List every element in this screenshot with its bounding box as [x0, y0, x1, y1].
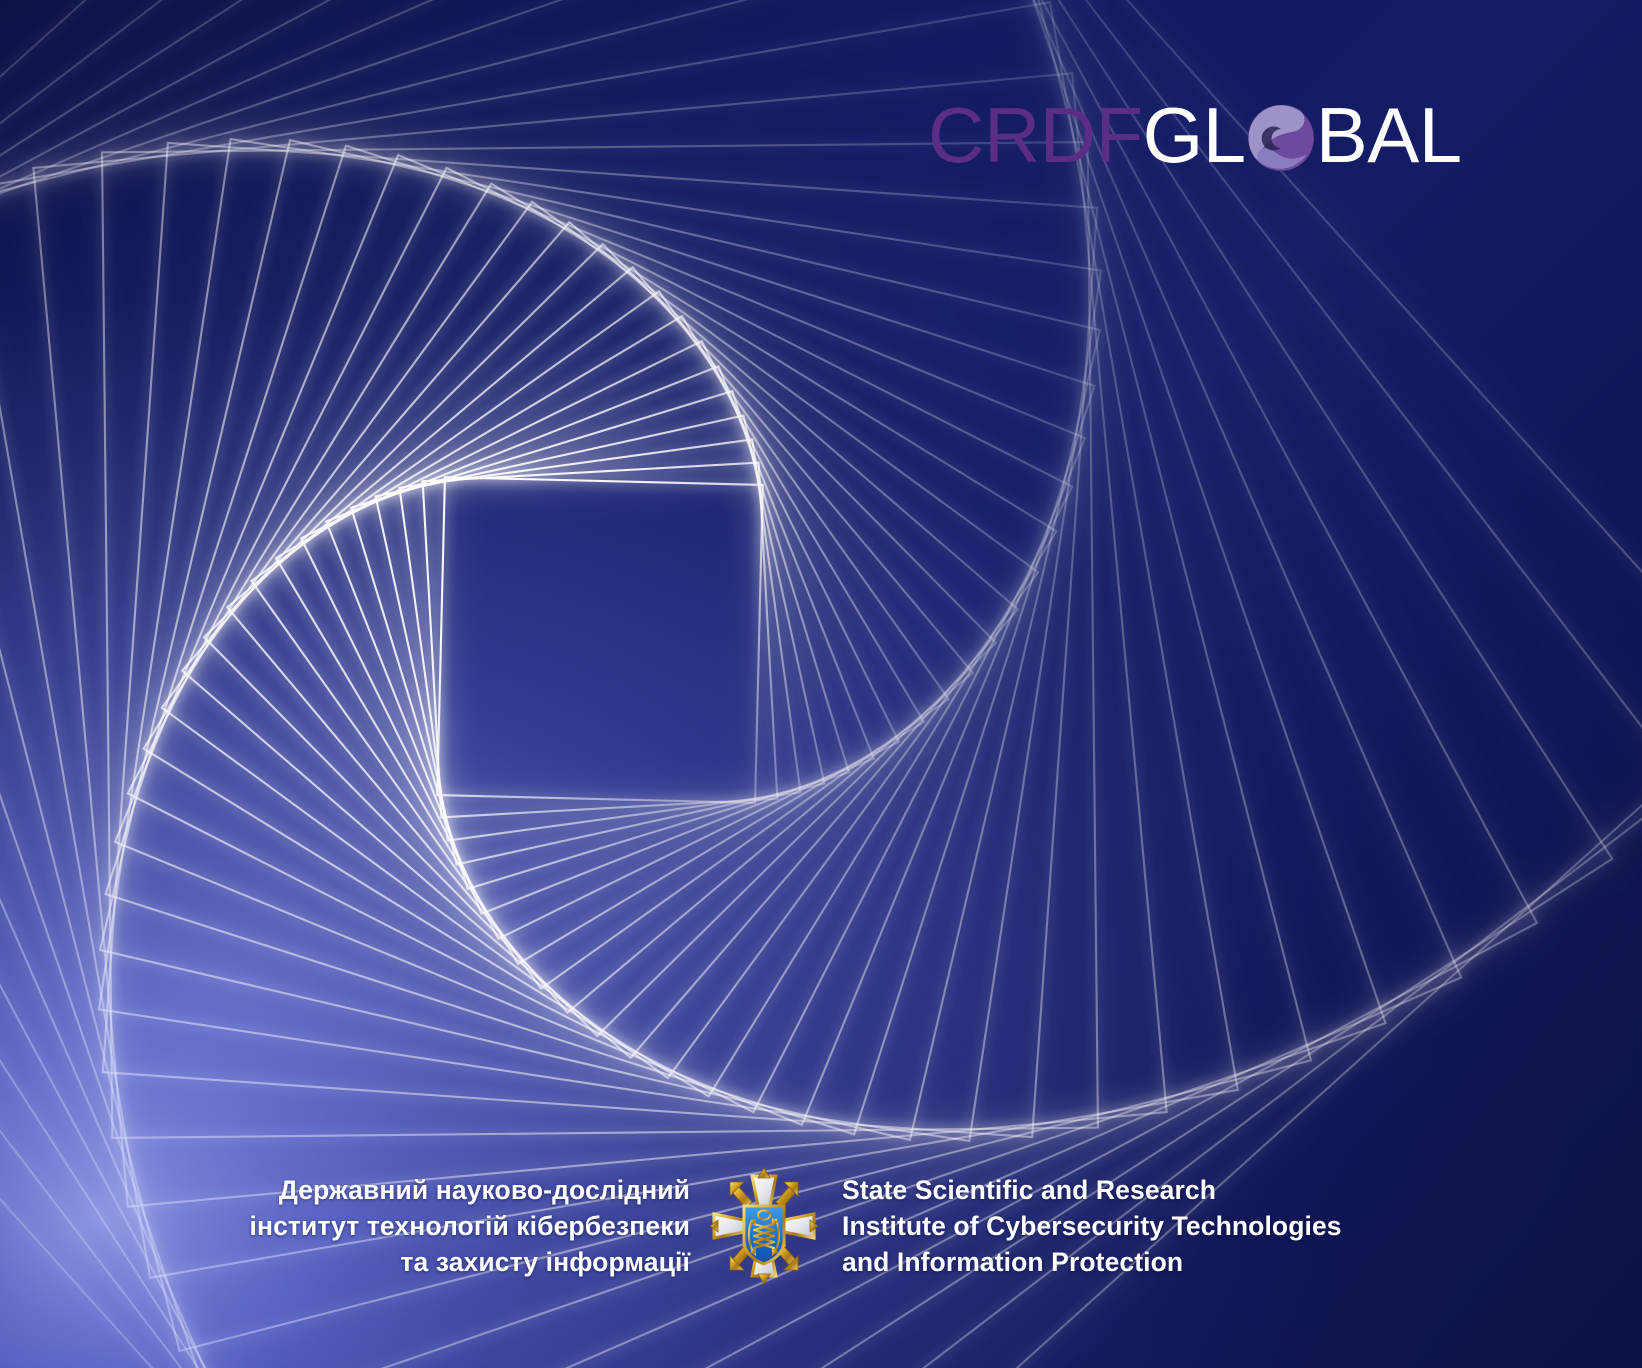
slide-canvas: CRDFGL BAL Державний науково-дослідний і… — [0, 0, 1642, 1368]
institute-ua-line-2: інститут технологій кібербезпеки — [170, 1208, 690, 1244]
institute-en-line-1: State Scientific and Research — [842, 1172, 1342, 1208]
crdf-global-logo: CRDFGL BAL — [928, 93, 1476, 177]
logo-text-gl: GL — [1143, 93, 1246, 177]
institute-ua-line-3: та захисту інформації — [170, 1244, 690, 1280]
logo-text-crdf: CRDF — [928, 93, 1143, 177]
institute-en-line-2: Institute of Cybersecurity Technologies — [842, 1208, 1342, 1244]
institute-name-english: State Scientific and Research Institute … — [842, 1172, 1342, 1280]
globe-swirl-icon — [1244, 101, 1318, 175]
institute-ua-line-1: Державний науково-дослідний — [170, 1172, 690, 1208]
institute-en-line-3: and Information Protection — [842, 1244, 1342, 1280]
ukraine-cross-emblem-icon — [708, 1162, 820, 1290]
logo-text-bal: BAL — [1316, 93, 1462, 177]
institute-branding-bar: Державний науково-дослідний інститут тех… — [0, 1162, 1642, 1290]
institute-name-ukrainian: Державний науково-дослідний інститут тех… — [170, 1172, 690, 1280]
